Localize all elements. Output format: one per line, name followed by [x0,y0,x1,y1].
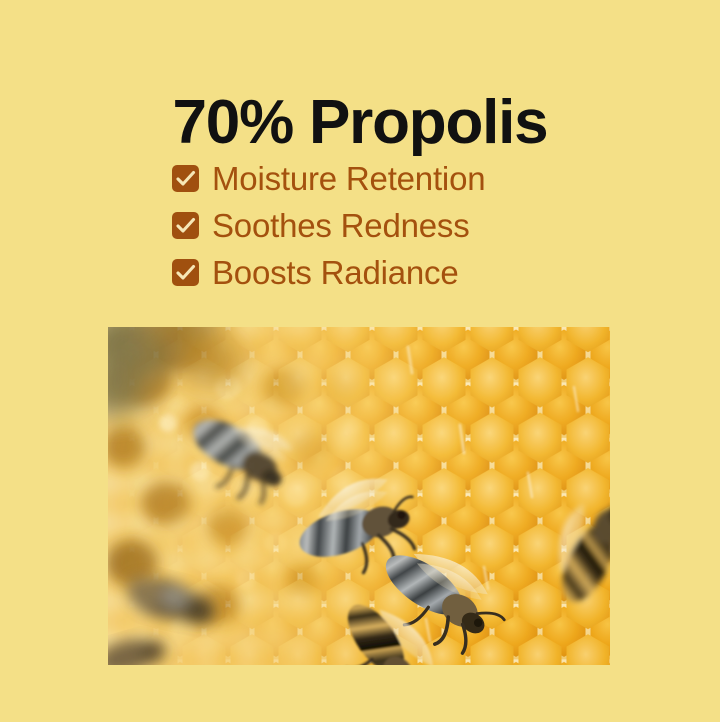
page-title: 70% Propolis [0,90,720,155]
benefit-label: Moisture Retention [212,162,485,195]
checkbox-checked-icon [172,212,199,239]
list-item: Moisture Retention [172,155,642,202]
benefit-label: Boosts Radiance [212,256,458,289]
benefit-label: Soothes Redness [212,209,470,242]
list-item: Soothes Redness [172,202,642,249]
benefit-list: Moisture Retention Soothes Redness Boost… [172,155,642,296]
list-item: Boosts Radiance [172,249,642,296]
checkbox-checked-icon [172,165,199,192]
checkbox-checked-icon [172,259,199,286]
honeybees-on-honeycomb-photo [108,327,610,665]
propolis-product-poster: 70% Propolis Moisture Retention Soothes … [0,0,720,722]
